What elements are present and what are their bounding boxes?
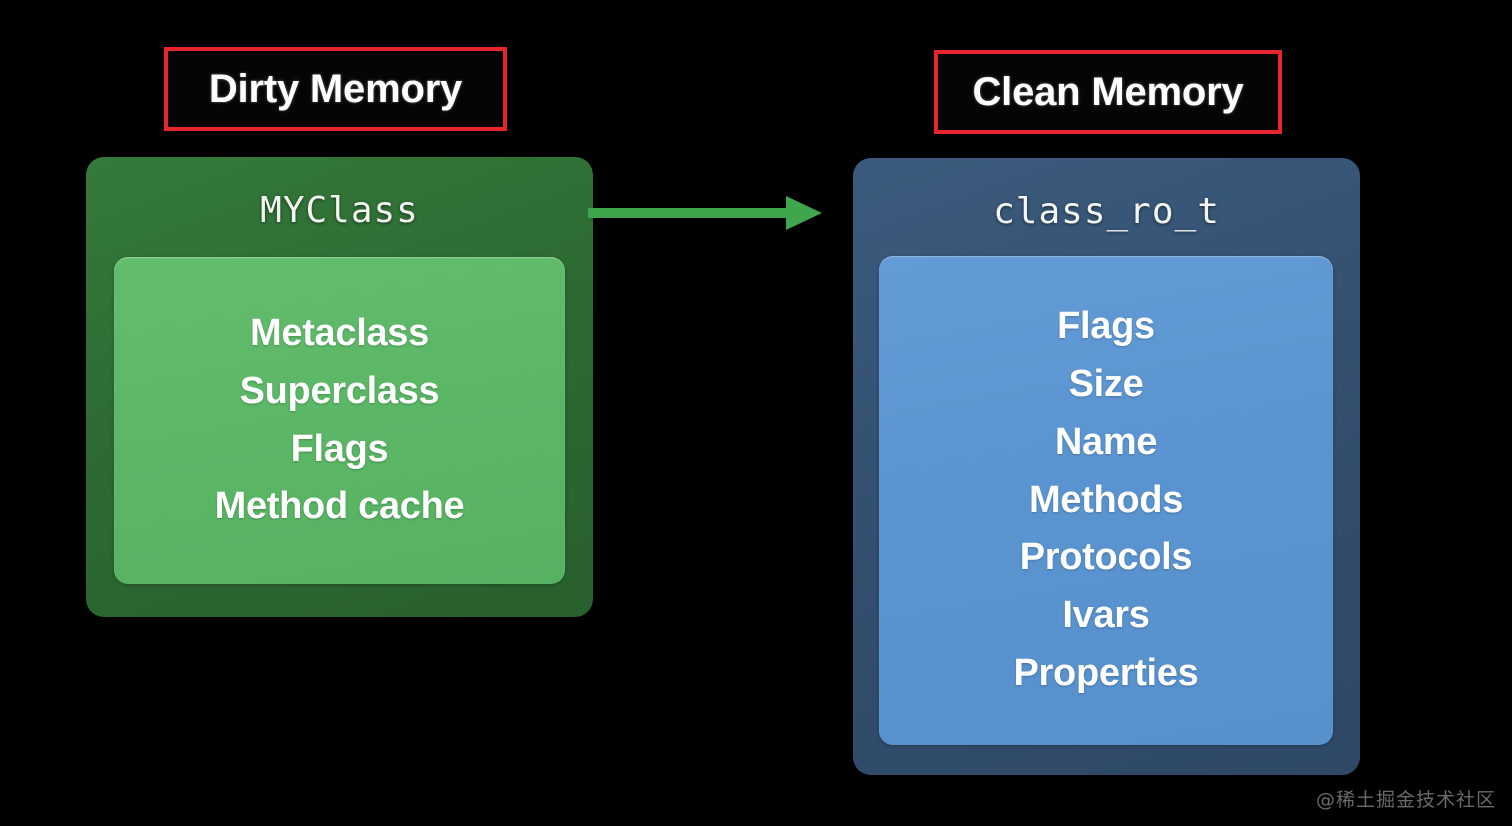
list-item: Flags	[291, 421, 389, 479]
clean-memory-label: Clean Memory	[934, 50, 1282, 134]
list-item: Protocols	[1020, 529, 1193, 587]
clean-memory-panel: class_ro_t Flags Size Name Methods Proto…	[853, 158, 1360, 775]
arrow-right-icon	[588, 188, 824, 238]
list-item: Ivars	[1062, 587, 1149, 645]
list-item: Flags	[1057, 298, 1155, 356]
clean-memory-label-text: Clean Memory	[972, 70, 1243, 115]
dirty-memory-panel: MYClass Metaclass Superclass Flags Metho…	[86, 157, 593, 617]
dirty-memory-label: Dirty Memory	[164, 47, 507, 131]
list-item: Metaclass	[250, 305, 429, 363]
dirty-panel-field-list: Metaclass Superclass Flags Method cache	[114, 257, 565, 584]
clean-panel-field-list: Flags Size Name Methods Protocols Ivars …	[879, 256, 1333, 745]
watermark: @稀土掘金技术社区	[1316, 785, 1496, 812]
clean-panel-title: class_ro_t	[853, 191, 1360, 232]
dirty-panel-title: MYClass	[86, 190, 593, 231]
list-item: Methods	[1029, 472, 1183, 530]
dirty-memory-label-text: Dirty Memory	[209, 67, 462, 112]
list-item: Name	[1055, 414, 1157, 472]
list-item: Superclass	[240, 363, 440, 421]
list-item: Method cache	[215, 478, 465, 536]
slide-canvas: { "colors": { "background": "#000000", "…	[0, 0, 1512, 826]
list-item: Size	[1069, 356, 1144, 414]
list-item: Properties	[1014, 645, 1199, 703]
